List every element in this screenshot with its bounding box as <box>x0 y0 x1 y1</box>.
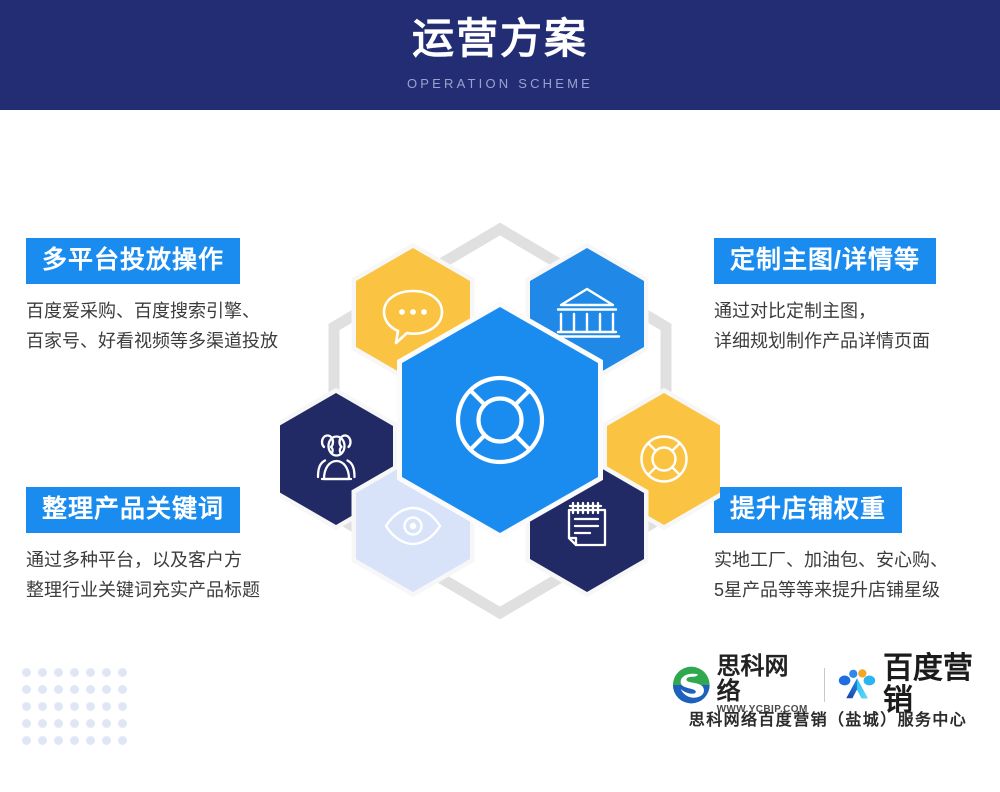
card-badge-store-weight: 提升店铺权重 <box>714 487 902 533</box>
dot <box>86 668 95 677</box>
dot <box>86 719 95 728</box>
dot <box>54 736 63 745</box>
card-desc-line: 5星产品等等来提升店铺星级 <box>714 575 948 605</box>
dot <box>22 668 31 677</box>
sike-logo: 思科网络 WWW.YCBIP.COM <box>672 654 809 716</box>
footer-caption: 思科网络百度营销（盐城）服务中心 <box>672 710 984 732</box>
dot <box>118 702 127 711</box>
card-badge-custom-main-image: 定制主图/详情等 <box>714 238 936 284</box>
dot <box>38 702 47 711</box>
dot <box>54 702 63 711</box>
hexagon-cluster <box>280 215 720 625</box>
dot <box>22 719 31 728</box>
card-badge-multi-platform: 多平台投放操作 <box>26 238 240 284</box>
dot <box>102 719 111 728</box>
page-header: 运营方案 OPERATION SCHEME <box>0 0 1000 110</box>
dot <box>22 736 31 745</box>
dot <box>38 719 47 728</box>
card-desc-line: 整理行业关键词充实产品标题 <box>26 575 260 605</box>
dot <box>70 702 79 711</box>
dot <box>38 736 47 745</box>
footer-logo-bar: 思科网络 WWW.YCBIP.COM 百度营销 <box>672 663 982 707</box>
dot <box>22 685 31 694</box>
sike-name: 思科网络 <box>717 654 810 704</box>
card-desc-line: 通过多种平台，以及客户方 <box>26 545 260 575</box>
baidu-paw-icon <box>838 666 876 704</box>
card-desc-line: 实地工厂、加油包、安心购、 <box>714 545 948 575</box>
dot <box>102 702 111 711</box>
card-badge-keywords: 整理产品关键词 <box>26 487 240 533</box>
dot <box>54 668 63 677</box>
baidu-name: 百度营销 <box>883 653 982 717</box>
hex-node-center[interactable] <box>402 307 598 533</box>
dot <box>22 702 31 711</box>
dot <box>38 668 47 677</box>
card-desc-line: 百度爱采购、百度搜索引擎、 <box>26 296 278 326</box>
card-desc-line: 详细规划制作产品详情页面 <box>714 326 936 356</box>
sike-s-mark-icon <box>672 665 711 705</box>
dot <box>102 668 111 677</box>
dot <box>102 685 111 694</box>
card-multi-platform: 多平台投放操作 百度爱采购、百度搜索引擎、 百家号、好看视频等多渠道投放 <box>26 238 278 356</box>
logo-divider <box>824 668 825 702</box>
card-custom-main-image: 定制主图/详情等 通过对比定制主图， 详细规划制作产品详情页面 <box>714 238 936 356</box>
dot <box>70 719 79 728</box>
card-keywords: 整理产品关键词 通过多种平台，以及客户方 整理行业关键词充实产品标题 <box>26 487 260 605</box>
dot <box>70 668 79 677</box>
dot <box>86 736 95 745</box>
baidu-logo: 百度营销 <box>838 653 982 717</box>
dot <box>118 668 127 677</box>
dot <box>118 719 127 728</box>
card-desc-line: 百家号、好看视频等多渠道投放 <box>26 326 278 356</box>
dot <box>38 685 47 694</box>
page-title: 运营方案 <box>0 14 1000 64</box>
card-store-weight: 提升店铺权重 实地工厂、加油包、安心购、 5星产品等等来提升店铺星级 <box>714 487 948 605</box>
dot <box>102 736 111 745</box>
dot <box>86 685 95 694</box>
dot <box>70 736 79 745</box>
page-subtitle: OPERATION SCHEME <box>0 75 1000 93</box>
dot <box>54 685 63 694</box>
card-desc-line: 通过对比定制主图， <box>714 296 936 326</box>
dot <box>118 736 127 745</box>
dot <box>118 685 127 694</box>
dot <box>54 719 63 728</box>
decorative-dot-grid <box>22 668 134 738</box>
dot <box>86 702 95 711</box>
dot <box>70 685 79 694</box>
